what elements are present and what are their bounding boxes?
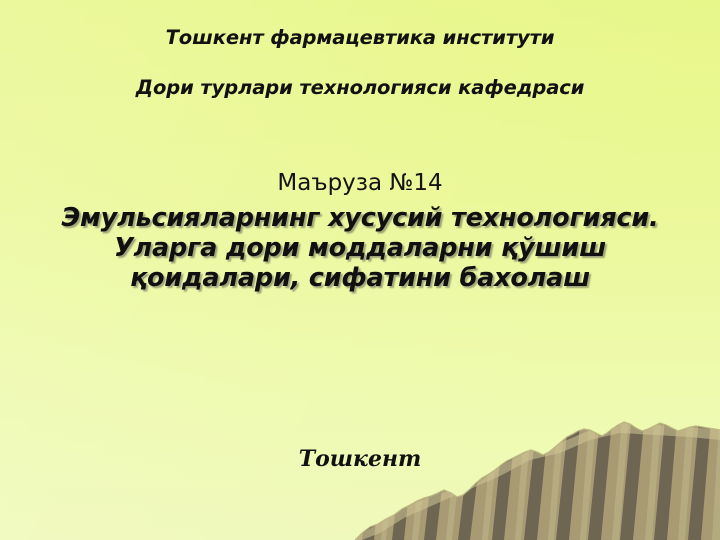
department-name: Дори турлари технологияси кафедраси (0, 76, 720, 99)
presentation-slide: Тошкент фармацевтика институти Дори турл… (0, 0, 720, 540)
title-line-3: қоидалари, сифатини бахолаш (0, 263, 720, 293)
institute-name: Тошкент фармацевтика институти (0, 26, 720, 49)
title-line-2: Уларга дори моддаларни қўшиш (0, 233, 720, 263)
organization-block: Тошкент фармацевтика институти Дори турл… (0, 26, 720, 99)
lecture-number: Маъруза №14 (0, 170, 720, 196)
slide-title: Эмульсияларнинг хусусий технологияси. Ул… (0, 203, 720, 293)
title-line-1: Эмульсияларнинг хусусий технологияси. (0, 203, 720, 233)
city-name: Тошкент (0, 446, 720, 472)
slide-content: Тошкент фармацевтика институти Дори турл… (0, 0, 720, 540)
